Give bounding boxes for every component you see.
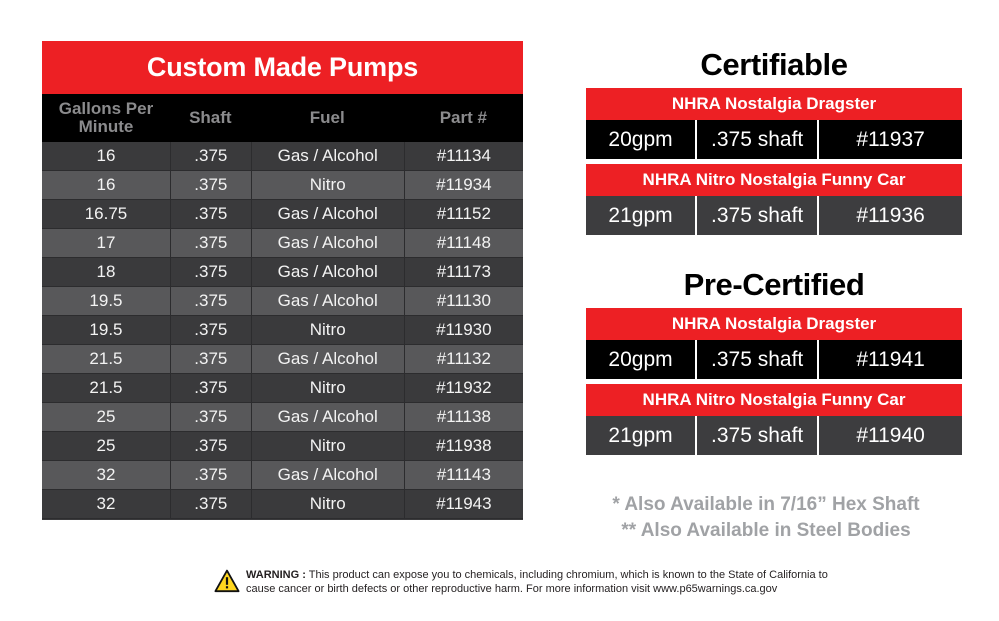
table-row: 18.375Gas / Alcohol#11173 [42,258,523,287]
table-row: 25.375Nitro#11938 [42,432,523,461]
certifiable-row: 20gpm.375 shaft#11937 [586,120,962,159]
certifiable-groups: NHRA Nostalgia Dragster20gpm.375 shaft#1… [586,88,962,235]
table-row: 21.5.375Nitro#11932 [42,374,523,403]
cell-part: #11932 [404,374,523,402]
cell-gpm: 25 [42,403,170,431]
cell-part: #11152 [404,200,523,228]
cell-shaft: .375 [170,345,251,373]
table-row: 17.375Gas / Alcohol#11148 [42,229,523,258]
cell-fuel: Nitro [251,374,404,402]
cell-shaft: .375 [170,461,251,489]
certifiable-cell-part: #11937 [817,120,962,159]
cell-shaft: .375 [170,374,251,402]
certifiable-row: 21gpm.375 shaft#11936 [586,196,962,235]
cell-fuel: Gas / Alcohol [251,229,404,257]
column-header-part-number: Part # [404,109,523,127]
cell-gpm: 16 [42,171,170,199]
cell-part: #11938 [404,432,523,460]
table-row: 16.375Nitro#11934 [42,171,523,200]
pumps-table-body: 16.375Gas / Alcohol#1113416.375Nitro#119… [42,142,523,519]
table-row: 32.375Nitro#11943 [42,490,523,519]
certifiable-cell-gpm: 20gpm [586,120,695,159]
cell-fuel: Gas / Alcohol [251,200,404,228]
certifiable-cell-gpm: 21gpm [586,196,695,235]
cell-fuel: Gas / Alcohol [251,287,404,315]
cell-shaft: .375 [170,258,251,286]
cell-fuel: Nitro [251,432,404,460]
certifiable-heading: Certifiable [586,45,962,85]
cell-shaft: .375 [170,316,251,344]
cell-fuel: Gas / Alcohol [251,258,404,286]
cell-fuel: Nitro [251,171,404,199]
table-row: 19.5.375Nitro#11930 [42,316,523,345]
table-row: 16.75.375Gas / Alcohol#11152 [42,200,523,229]
cell-gpm: 32 [42,490,170,518]
column-header-gpm-line1: Gallons Per [44,100,168,118]
prop65-warning-body: This product can expose you to chemicals… [246,569,828,595]
footnote-steel-bodies: ** Also Available in Steel Bodies [566,518,966,544]
prop65-warning: WARNING : This product can expose you to… [214,568,854,598]
cell-gpm: 18 [42,258,170,286]
cell-gpm: 19.5 [42,316,170,344]
pre-certified-row: 21gpm.375 shaft#11940 [586,416,962,455]
cell-part: #11934 [404,171,523,199]
cell-shaft: .375 [170,200,251,228]
pre-certified-cell-part: #11940 [817,416,962,455]
certifiable-band: NHRA Nitro Nostalgia Funny Car [586,164,962,196]
custom-made-pumps-table: Custom Made Pumps Gallons Per Minute Sha… [42,41,523,520]
cell-part: #11134 [404,142,523,170]
pre-certified-cell-shaft: .375 shaft [695,416,817,455]
cell-fuel: Gas / Alcohol [251,461,404,489]
cell-gpm: 32 [42,461,170,489]
cell-part: #11132 [404,345,523,373]
prop65-warning-label: WARNING : [246,569,306,581]
pumps-table-title: Custom Made Pumps [147,52,418,83]
pre-certified-band: NHRA Nitro Nostalgia Funny Car [586,384,962,416]
cell-part: #11148 [404,229,523,257]
cell-shaft: .375 [170,432,251,460]
cell-part: #11943 [404,490,523,518]
cell-gpm: 17 [42,229,170,257]
cell-fuel: Gas / Alcohol [251,345,404,373]
column-header-shaft: Shaft [170,109,251,127]
cell-part: #11930 [404,316,523,344]
table-row: 16.375Gas / Alcohol#11134 [42,142,523,171]
cell-fuel: Nitro [251,490,404,518]
cell-part: #11138 [404,403,523,431]
certifiable-band-label: NHRA Nitro Nostalgia Funny Car [643,170,906,190]
cell-fuel: Gas / Alcohol [251,403,404,431]
cell-gpm: 21.5 [42,374,170,402]
pre-certified-cell-shaft: .375 shaft [695,340,817,379]
cell-gpm: 16.75 [42,200,170,228]
cell-shaft: .375 [170,403,251,431]
cell-shaft: .375 [170,171,251,199]
pre-certified-cell-gpm: 20gpm [586,340,695,379]
cell-part: #11143 [404,461,523,489]
table-row: 32.375Gas / Alcohol#11143 [42,461,523,490]
cell-part: #11173 [404,258,523,286]
cell-shaft: .375 [170,490,251,518]
cell-gpm: 16 [42,142,170,170]
pumps-table-header-row: Gallons Per Minute Shaft Fuel Part # [42,94,523,142]
pre-certified-cell-part: #11941 [817,340,962,379]
pre-certified-groups: NHRA Nostalgia Dragster20gpm.375 shaft#1… [586,308,962,455]
cell-part: #11130 [404,287,523,315]
footnotes: * Also Available in 7/16” Hex Shaft ** A… [566,492,966,544]
table-row: 25.375Gas / Alcohol#11138 [42,403,523,432]
pre-certified-cell-gpm: 21gpm [586,416,695,455]
table-row: 19.5.375Gas / Alcohol#11130 [42,287,523,316]
certifiable-cell-shaft: .375 shaft [695,120,817,159]
certifiable-band-label: NHRA Nostalgia Dragster [672,94,876,114]
pre-certified-band-label: NHRA Nitro Nostalgia Funny Car [643,390,906,410]
pre-certified-section: Pre-Certified NHRA Nostalgia Dragster20g… [586,265,962,460]
cell-shaft: .375 [170,229,251,257]
pumps-table-title-bar: Custom Made Pumps [42,41,523,94]
prop65-warning-text: WARNING : This product can expose you to… [246,568,854,596]
warning-triangle-icon [214,569,240,598]
certifiable-cell-part: #11936 [817,196,962,235]
cell-gpm: 19.5 [42,287,170,315]
pre-certified-heading: Pre-Certified [586,265,962,305]
table-row: 21.5.375Gas / Alcohol#11132 [42,345,523,374]
column-header-gallons-per-minute: Gallons Per Minute [42,100,170,136]
pre-certified-band-label: NHRA Nostalgia Dragster [672,314,876,334]
cell-gpm: 25 [42,432,170,460]
certifiable-cell-shaft: .375 shaft [695,196,817,235]
cell-fuel: Nitro [251,316,404,344]
certifiable-band: NHRA Nostalgia Dragster [586,88,962,120]
pre-certified-row: 20gpm.375 shaft#11941 [586,340,962,379]
cell-shaft: .375 [170,142,251,170]
column-header-fuel: Fuel [251,109,404,127]
cell-shaft: .375 [170,287,251,315]
footnote-hex-shaft: * Also Available in 7/16” Hex Shaft [566,492,966,518]
pre-certified-band: NHRA Nostalgia Dragster [586,308,962,340]
cell-gpm: 21.5 [42,345,170,373]
cell-fuel: Gas / Alcohol [251,142,404,170]
column-header-gpm-line2: Minute [44,118,168,136]
certifiable-section: Certifiable NHRA Nostalgia Dragster20gpm… [586,45,962,240]
